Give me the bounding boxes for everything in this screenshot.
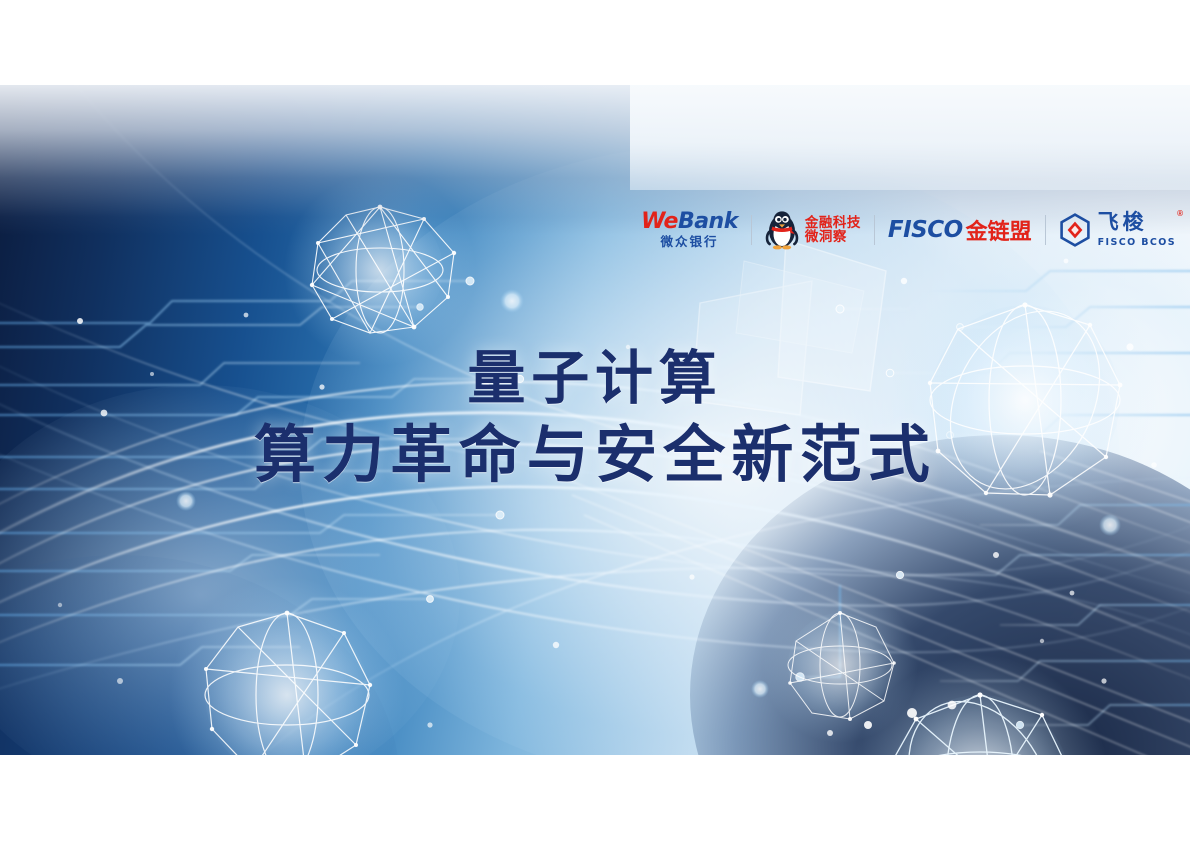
fisco-logo[interactable]: FISCO 金链盟 [888,206,1032,254]
logo-separator-1 [751,215,752,245]
logo-plate-background [630,85,1190,190]
penguin-icon [765,210,799,250]
fisco-chinese-name: 金链盟 [966,214,1032,246]
webank-word-bank: Bank [678,209,738,234]
wireframe-sphere-top-left [284,174,476,366]
light-ribbons-layer [0,85,1190,755]
sponsor-logo-bar: WeBank 微众银行 [641,203,1176,257]
bottom-left-vignette [0,555,400,755]
fisco-wordmark: FISCO [888,217,963,243]
circuit-traces-layer [0,85,1190,755]
wireframe-sphere-right [890,265,1160,535]
registered-mark-icon: ® [1177,210,1183,218]
bottom-left-glow [0,385,460,755]
wireframe-sphere-centre-low [762,587,918,743]
banner-title-line-2: 算力革命与安全新范式 [0,417,1190,494]
banner-title-line-1: 量子计算 [0,343,1190,415]
webank-logo[interactable]: WeBank 微众银行 [641,206,738,254]
webank-chinese-name: 微众银行 [661,236,719,249]
wireframe-sphere-bottom-left [169,577,405,755]
webank-wordmark: WeBank [641,211,738,233]
logo-separator-3 [1045,215,1046,245]
glass-panels-layer [0,85,1190,755]
hexagon-diamond-icon [1059,213,1091,247]
fintech-insight-logo[interactable]: 金融科技 微洞察 [765,206,861,254]
fisco-bcos-logo[interactable]: 飞梭® FISCO BCOS [1059,206,1176,254]
logo-separator-2 [874,215,875,245]
fisco-bcos-english-name: FISCO BCOS [1098,238,1176,248]
wireframe-spheres-layer [0,85,1190,755]
right-glow [880,205,1190,625]
banner-image: 量子计算 算力革命与安全新范式 WeBank 微众银行 [0,85,1190,755]
fisco-bcos-chinese-wrap: 飞梭® [1098,212,1176,234]
wireframe-sphere-bottom-right [850,655,1110,755]
page-root: 量子计算 算力革命与安全新范式 WeBank 微众银行 [0,0,1190,842]
banner-title-block: 量子计算 算力革命与安全新范式 [0,343,1190,494]
fisco-bcos-chinese-name: 飞梭 [1098,211,1148,234]
webank-word-we: We [641,209,678,234]
bottom-right-vignette [690,435,1190,755]
particles-layer [0,85,1190,755]
fintech-insight-line-2: 微洞察 [805,230,861,244]
fintech-insight-line-1: 金融科技 [805,216,861,230]
